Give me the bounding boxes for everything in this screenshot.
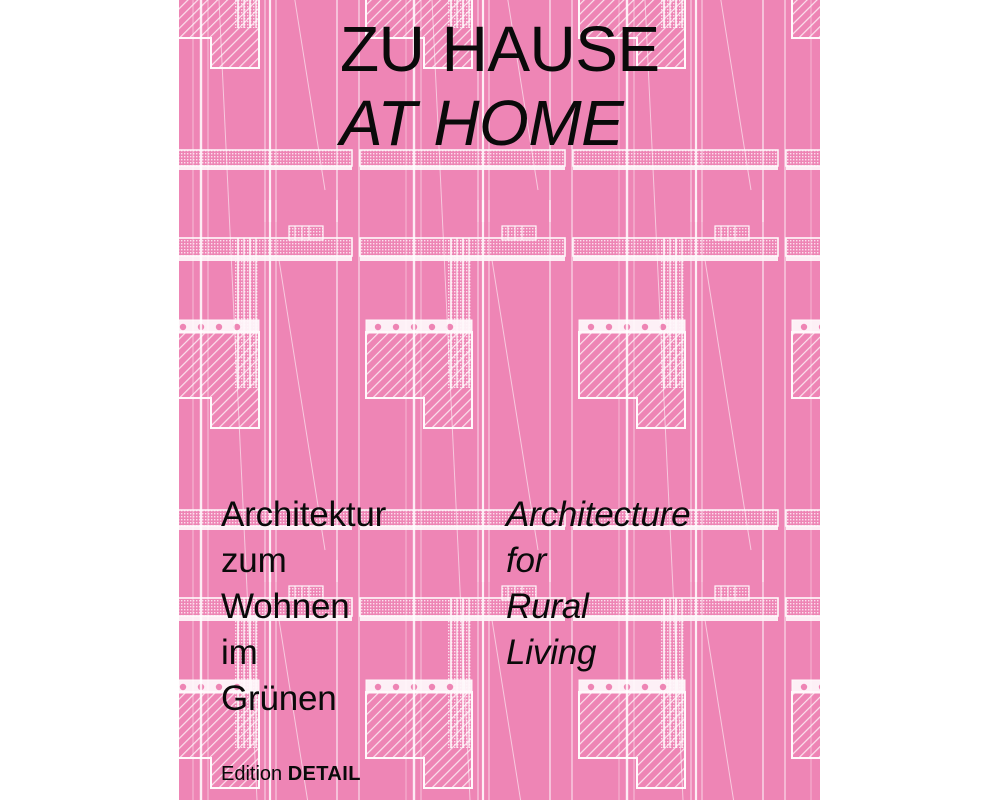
subtitle-english-line: Living [506,630,806,676]
subtitle-german-line: Grünen [221,676,501,722]
title-german: ZU HAUSE [340,12,810,86]
subtitle-german-line: Architektur [221,492,501,538]
subtitle-english-line: Architecture [506,492,806,538]
book-cover: ZU HAUSE AT HOME Architektur zum Wohnen … [179,0,820,800]
title-english: AT HOME [340,86,810,160]
subtitle-german-line: zum [221,538,501,584]
subtitle-german-line: im [221,630,501,676]
subtitle-german-line: Wohnen [221,584,501,630]
cover-title-block: ZU HAUSE AT HOME [340,12,810,160]
publisher-brand: DETAIL [288,763,361,785]
subtitle-english-line: for [506,538,806,584]
subtitle-english-line: Rural [506,584,806,630]
subtitle-english-block: Architecture for Rural Living [506,492,806,676]
subtitle-german-block: Architektur zum Wohnen im Grünen [221,492,501,722]
book-cover-page: ZU HAUSE AT HOME Architektur zum Wohnen … [0,0,1000,800]
publisher-logo: Edition DETAIL [221,762,361,786]
publisher-word: Edition [221,763,282,785]
